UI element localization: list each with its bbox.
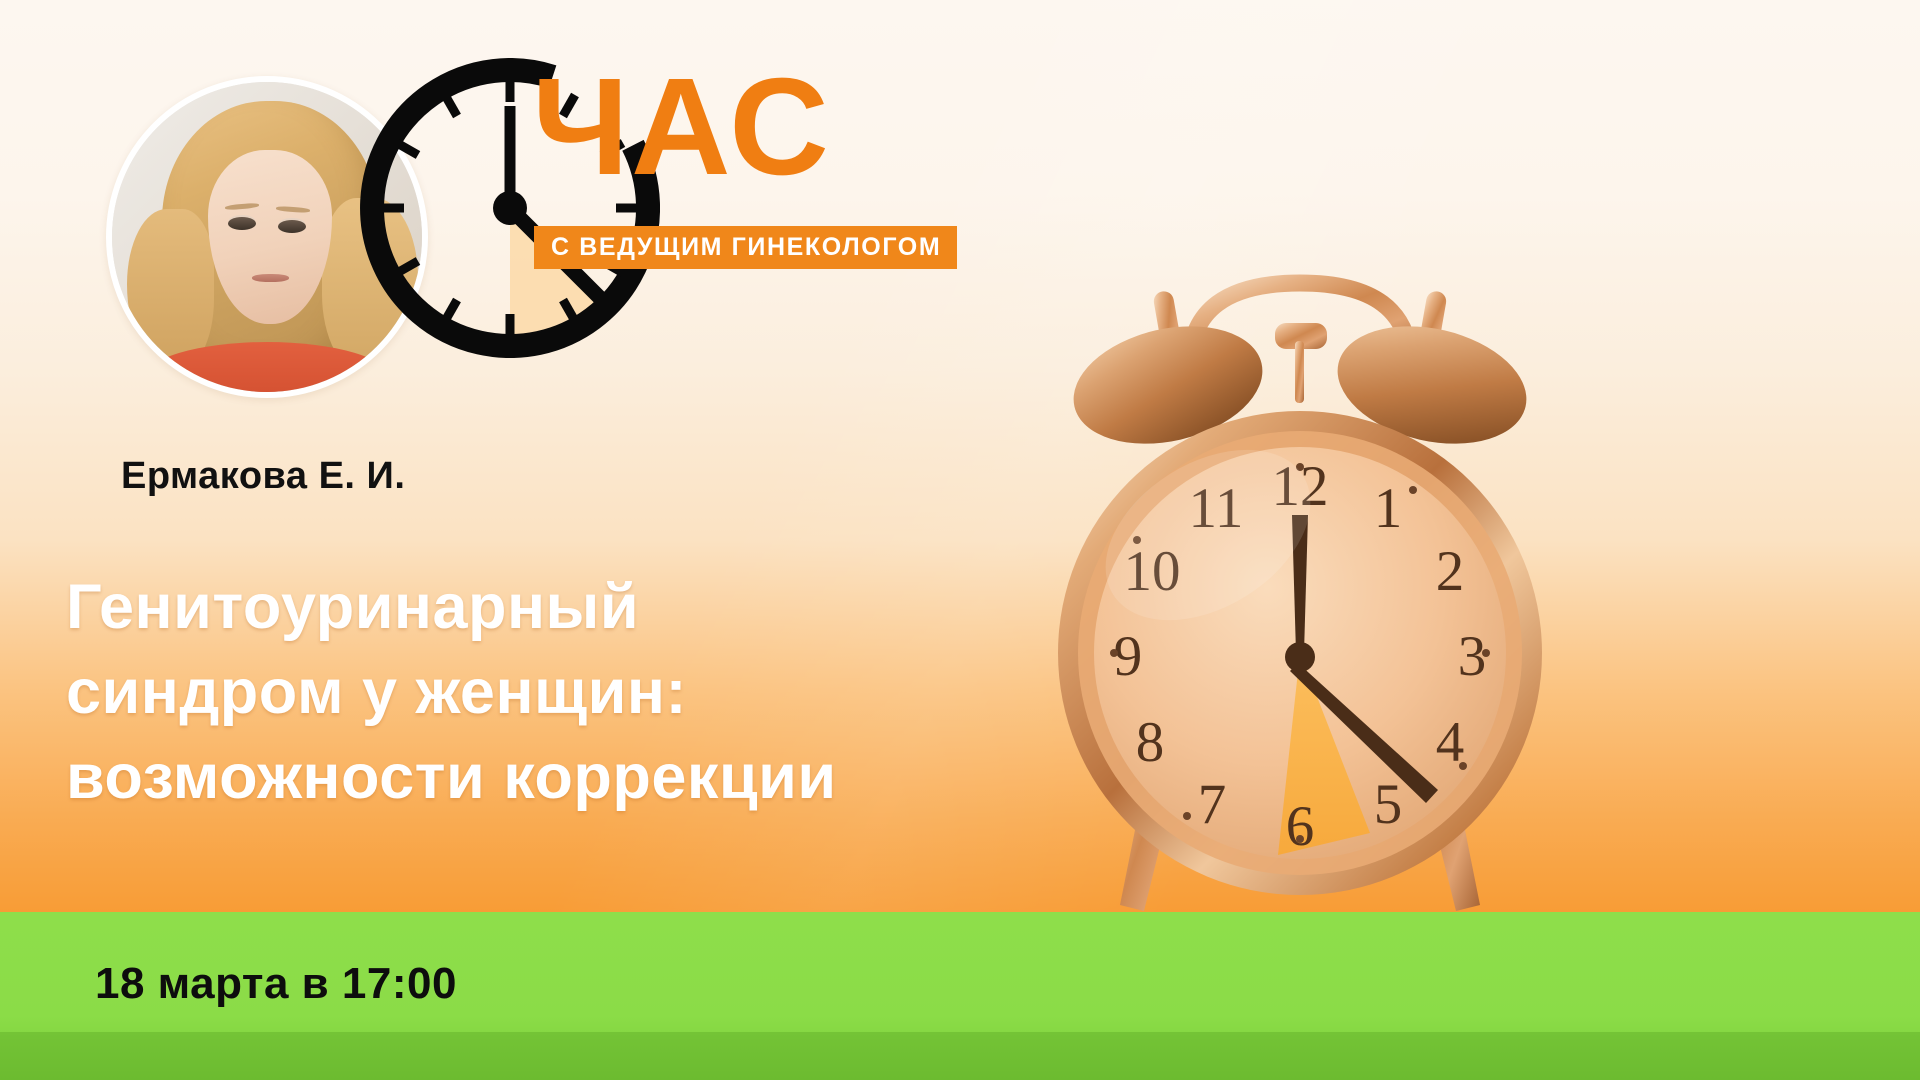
svg-text:2: 2 xyxy=(1436,540,1465,603)
svg-text:5: 5 xyxy=(1374,773,1403,836)
alarm-clock-hammer xyxy=(1275,323,1327,403)
portrait-eye-right xyxy=(278,220,306,233)
page-title: Генитоуринарный синдром у женщин: возмож… xyxy=(66,565,1046,820)
page-title-line-3: возможности коррекции xyxy=(66,735,1046,820)
svg-text:7: 7 xyxy=(1198,773,1227,836)
svg-text:6: 6 xyxy=(1286,795,1315,858)
svg-text:8: 8 xyxy=(1136,711,1165,774)
logo-clock-center-pin xyxy=(493,191,527,225)
poster-canvas: ЧАС С ВЕДУЩИМ ГИНЕКОЛОГОМ Ермакова Е. И.… xyxy=(0,0,1920,1080)
page-title-line-1: Генитоуринарный xyxy=(66,565,1046,650)
speaker-name: Ермакова Е. И. xyxy=(121,455,405,498)
footer-band-shadow xyxy=(0,1032,1920,1080)
brand-wordmark: ЧАС xyxy=(532,58,831,196)
alarm-clock-illustration: 12 1 2 3 4 5 6 7 8 9 10 11 xyxy=(1040,205,1560,965)
svg-text:9: 9 xyxy=(1114,625,1143,688)
schedule-datetime: 18 марта в 17:00 xyxy=(95,959,457,1009)
svg-text:3: 3 xyxy=(1458,625,1487,688)
alarm-clock-center-pin xyxy=(1285,642,1315,672)
svg-text:1: 1 xyxy=(1374,477,1403,540)
portrait-mouth xyxy=(252,274,289,282)
portrait-eye-left xyxy=(228,217,256,230)
brand-subtitle: С ВЕДУЩИМ ГИНЕКОЛОГОМ xyxy=(534,226,957,269)
page-title-line-2: синдром у женщин: xyxy=(66,650,1046,735)
